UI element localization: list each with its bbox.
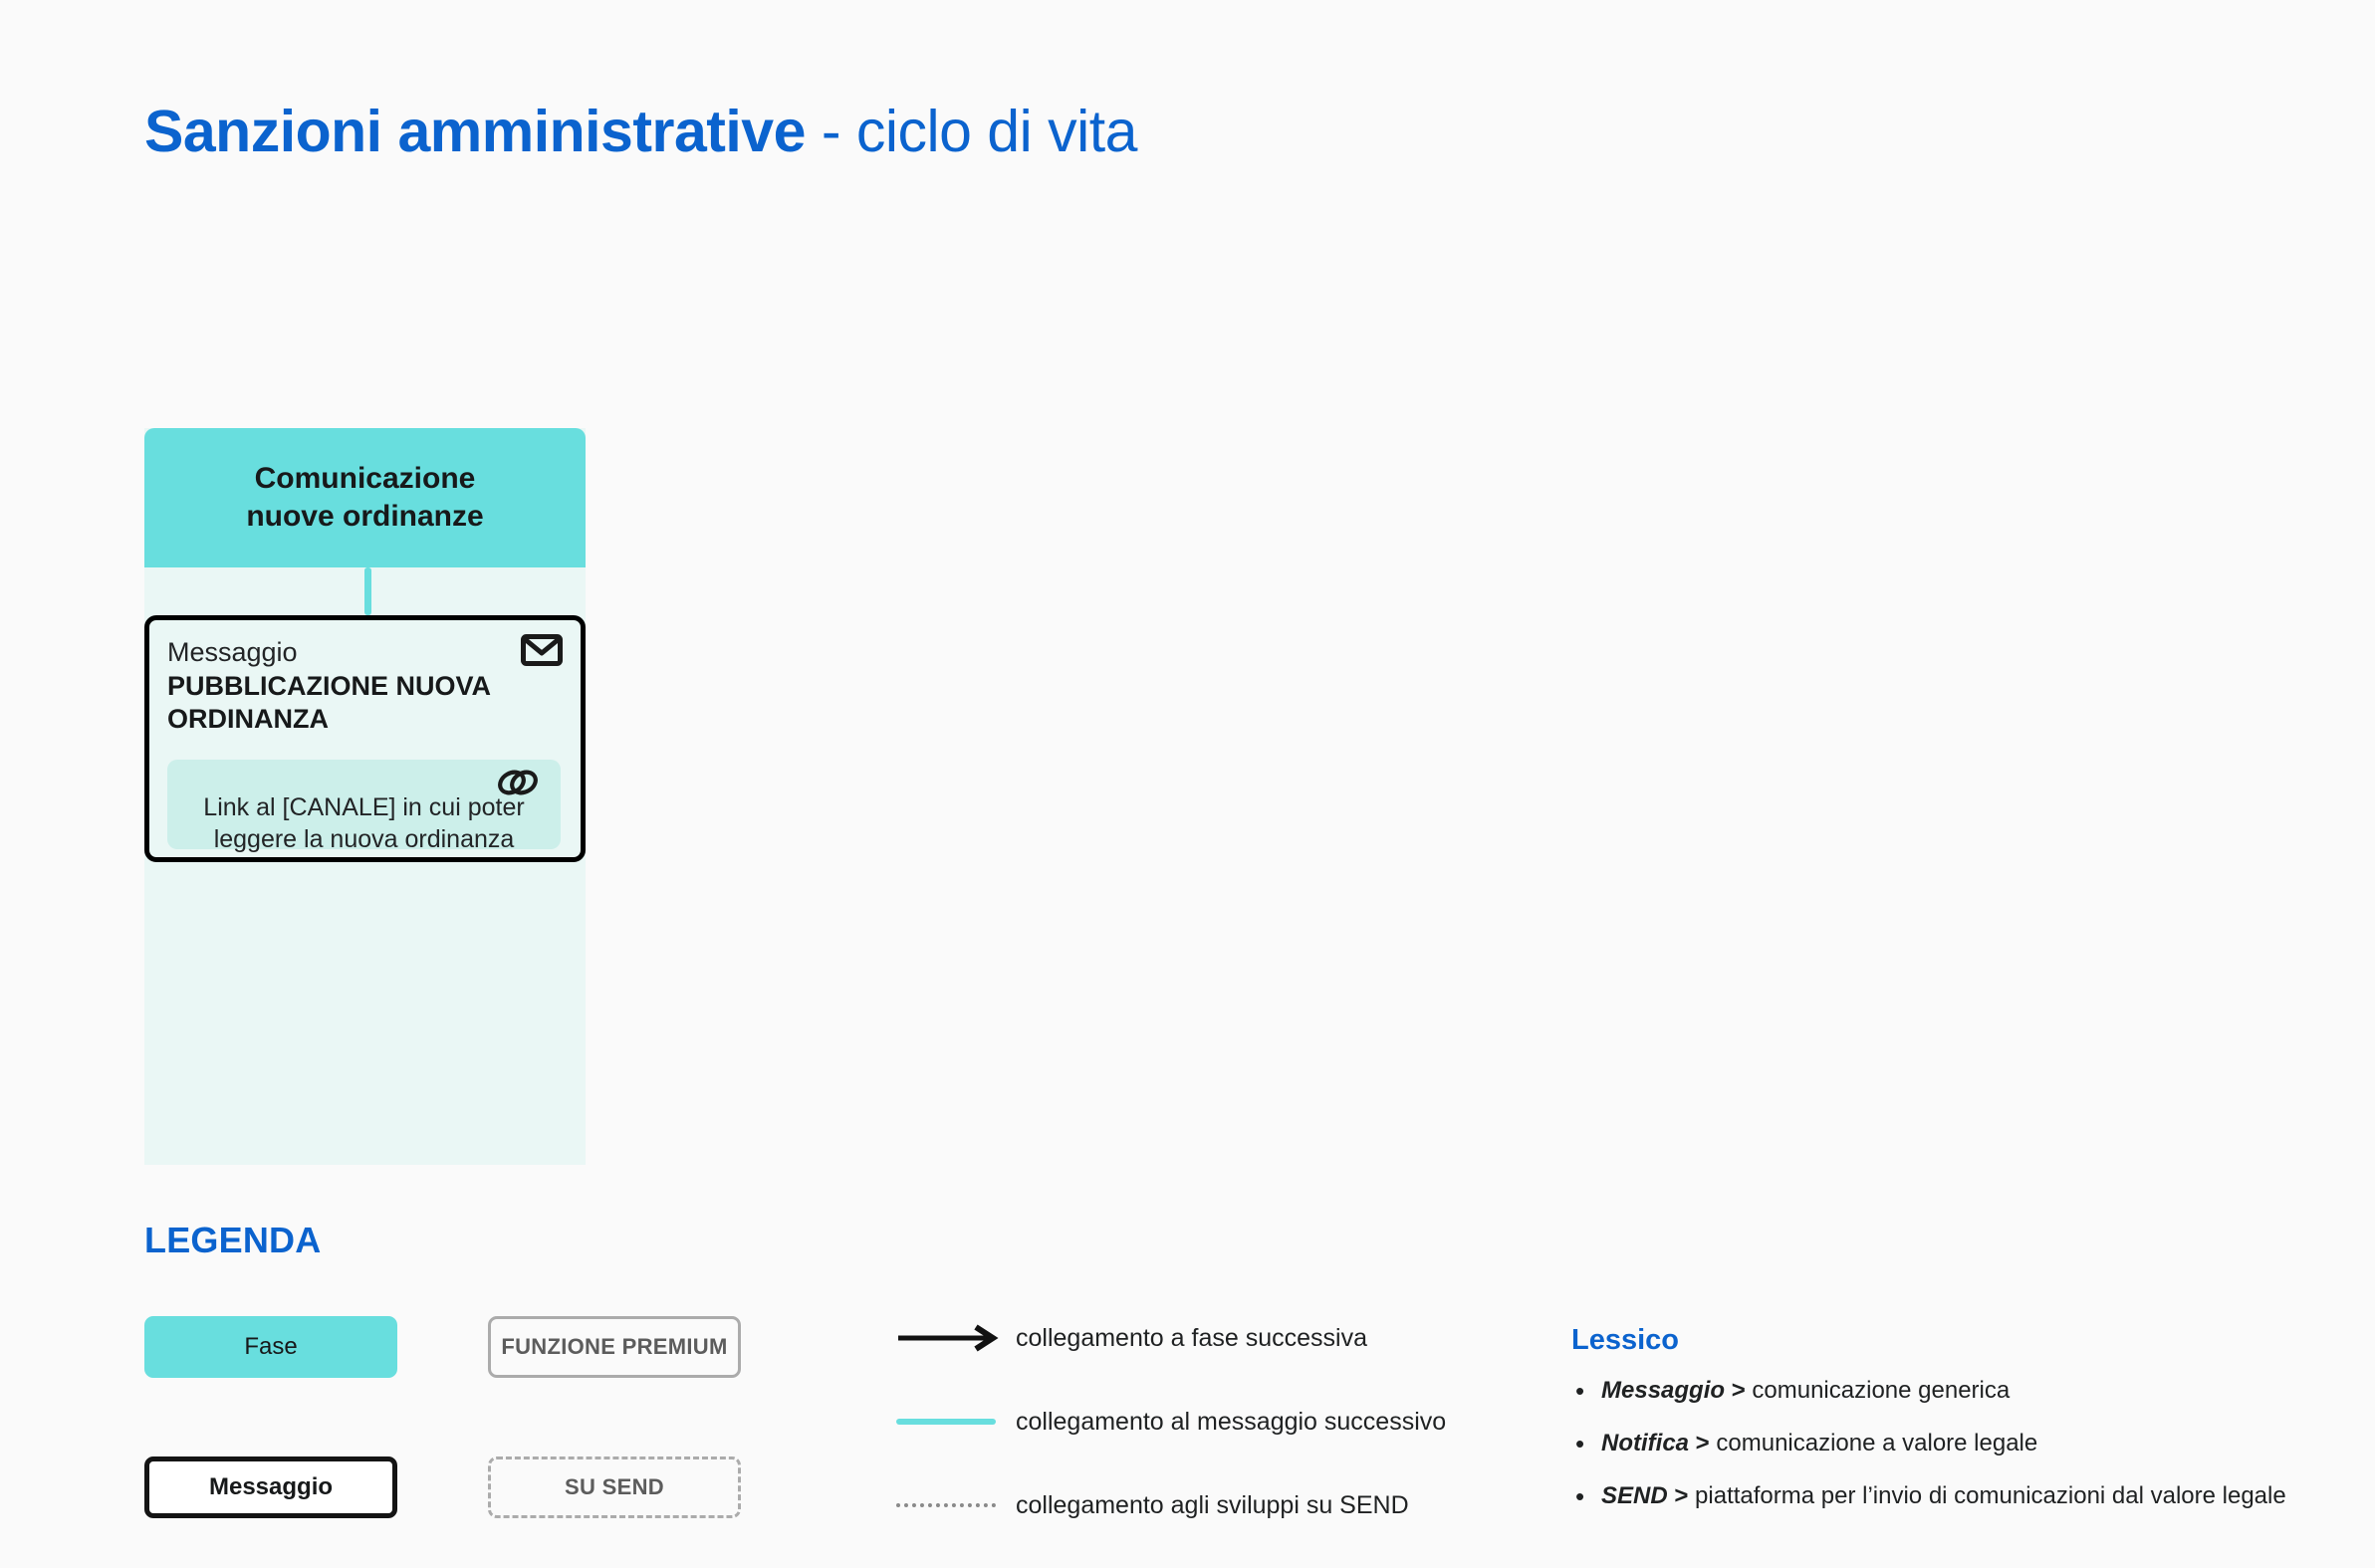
phase-to-message-connector [364, 567, 371, 615]
lessico-term-notifica: Notifica [1601, 1430, 1689, 1456]
legend-connector-label-messaggio: collegamento al messaggio successivo [1016, 1408, 1446, 1437]
legend-swatch-messaggio: Messaggio [144, 1456, 397, 1518]
lessico-sep-notifica: > [1689, 1430, 1716, 1456]
arrow-right-icon [896, 1318, 1011, 1358]
phase-box-label-line1: Comunicazione [255, 462, 476, 495]
lessico-definition-send: piattaforma per l’invio di comunicazioni… [1695, 1482, 2286, 1509]
lessico-item-notifica: Notifica > comunicazione a valore legale [1601, 1427, 2328, 1461]
legend-connector-label-send: collegamento agli sviluppi su SEND [1016, 1491, 1409, 1520]
page-title-strong: Sanzioni amministrative [144, 99, 806, 164]
lessico-section: Lessico Messaggio > comunicazione generi… [1571, 1324, 2328, 1531]
envelope-icon [521, 634, 563, 671]
lessico-sep-send: > [1668, 1482, 1695, 1509]
lessico-sep-messaggio: > [1725, 1377, 1752, 1404]
legend-swatch-fase-label: Fase [244, 1333, 297, 1361]
lessico-term-send: SEND [1601, 1482, 1668, 1509]
legend-connector-row-messaggio: collegamento al messaggio successivo [896, 1402, 1446, 1442]
lessico-term-messaggio: Messaggio [1601, 1377, 1725, 1404]
message-inner-box[interactable]: Link al [CANALE] in cui poter leggere la… [167, 760, 561, 849]
lessico-item-send: SEND > piattaforma per l’invio di comuni… [1601, 1479, 2328, 1514]
flow-column: Comunicazione nuove ordinanze Messaggio … [144, 428, 586, 1165]
dotted-line-icon [896, 1485, 1011, 1525]
legend-connector-row-fase: collegamento a fase successiva [896, 1318, 1367, 1358]
page-title: Sanzioni amministrative - ciclo di vita [144, 100, 1137, 164]
legend-title: LEGENDA [144, 1220, 321, 1261]
message-card-kind: Messaggio [167, 636, 559, 669]
phase-box-label: Comunicazione nuove ordinanze [232, 460, 497, 537]
legend-swatch-funzione-premium-label: FUNZIONE PREMIUM [501, 1334, 727, 1360]
legend-connector-label-fase: collegamento a fase successiva [1016, 1324, 1367, 1353]
lessico-definition-notifica: comunicazione a valore legale [1716, 1430, 2037, 1456]
message-inner-text: Link al [CANALE] in cui poter leggere la… [167, 791, 561, 855]
legend-connector-row-send: collegamento agli sviluppi su SEND [896, 1485, 1409, 1525]
phase-box-comunicazione-nuove-ordinanze[interactable]: Comunicazione nuove ordinanze [144, 428, 586, 567]
message-card-title: PUBBLICAZIONE NUOVA ORDINANZA [167, 670, 496, 736]
legend-swatch-su-send: SU SEND [488, 1456, 741, 1518]
message-card-header: Messaggio PUBBLICAZIONE NUOVA ORDINANZA [149, 620, 581, 736]
legend-swatch-fase: Fase [144, 1316, 397, 1378]
page-title-rest: - ciclo di vita [806, 99, 1137, 164]
legend-swatch-su-send-label: SU SEND [565, 1474, 664, 1500]
legend-swatch-messaggio-label: Messaggio [209, 1473, 333, 1501]
message-card-pubblicazione-nuova-ordinanza[interactable]: Messaggio PUBBLICAZIONE NUOVA ORDINANZA … [144, 615, 586, 862]
legend-swatch-funzione-premium: FUNZIONE PREMIUM [488, 1316, 741, 1378]
lessico-item-messaggio: Messaggio > comunicazione generica [1601, 1374, 2328, 1409]
lessico-definition-messaggio: comunicazione generica [1752, 1377, 2010, 1404]
lessico-list: Messaggio > comunicazione generica Notif… [1571, 1374, 2328, 1513]
lessico-title: Lessico [1571, 1324, 2328, 1357]
teal-line-icon [896, 1402, 1011, 1442]
phase-box-label-line2: nuove ordinanze [246, 500, 483, 533]
